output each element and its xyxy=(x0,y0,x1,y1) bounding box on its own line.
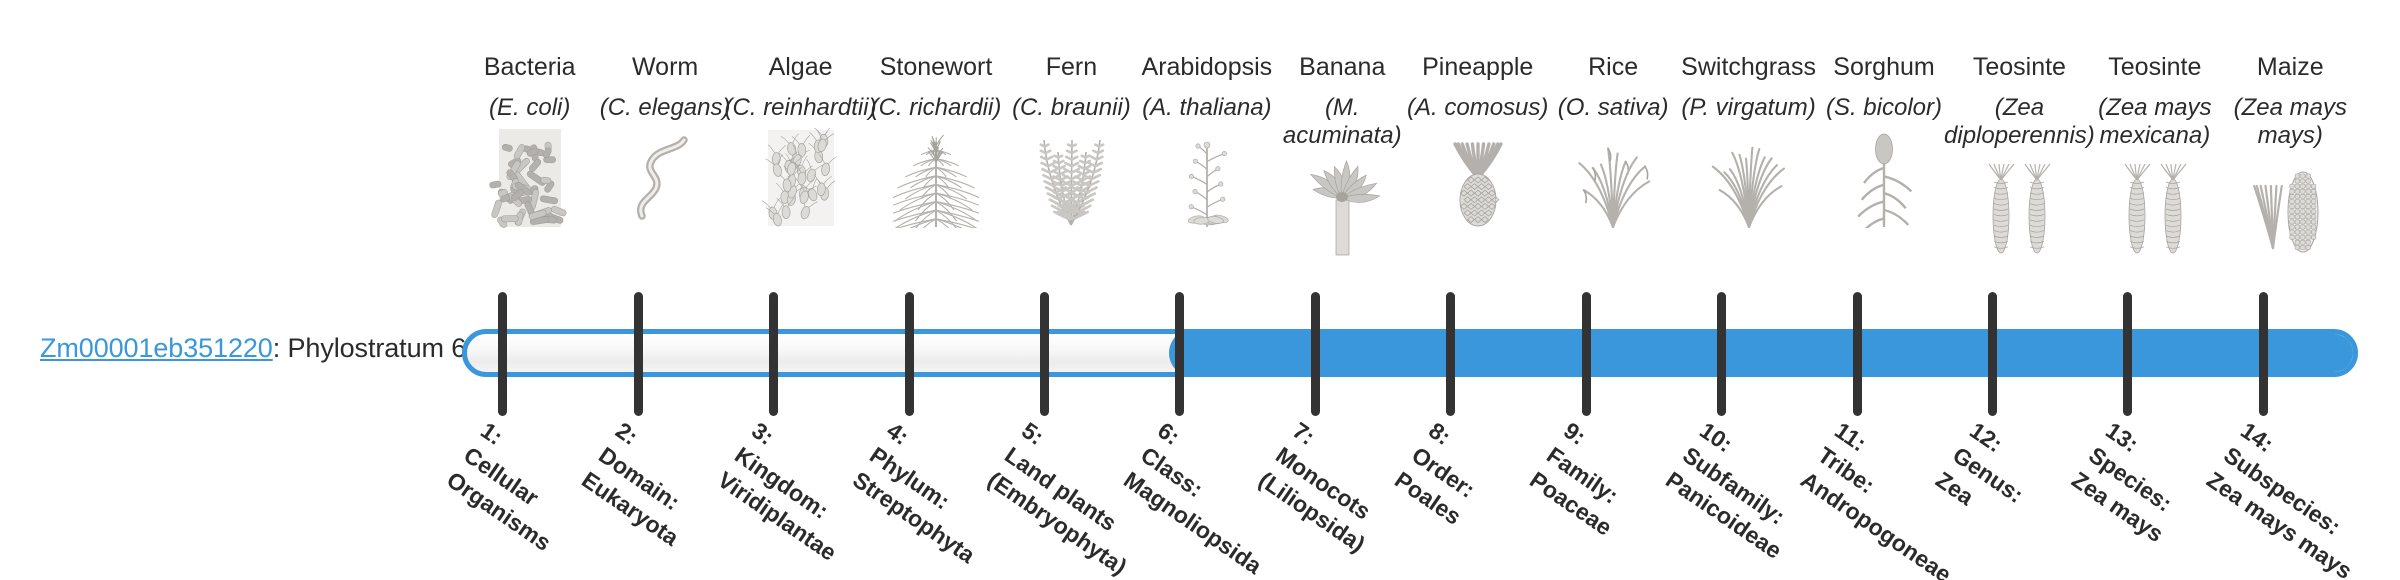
stratum-tick-1[interactable] xyxy=(498,292,507,416)
stratum-label-6: 6: Class: Magnoliopsida xyxy=(1118,416,1358,580)
phylostratum-chart: Zm00001eb351220: Phylostratum 6 Bacteria… xyxy=(0,0,2400,580)
stratum-tick-8[interactable] xyxy=(1446,292,1455,416)
stratum-label-11: 11: Tribe: Andropogoneae xyxy=(1795,416,2035,580)
maize-illustration xyxy=(2211,156,2370,256)
stratum-tick-14[interactable] xyxy=(2259,292,2268,416)
stratum-tick-10[interactable] xyxy=(1717,292,1726,416)
species-column: Maize (Zea mays mays) xyxy=(2211,52,2370,256)
stratum-tick-5[interactable] xyxy=(1040,292,1049,416)
stratum-tick-7[interactable] xyxy=(1311,292,1320,416)
stratum-tick-3[interactable] xyxy=(769,292,778,416)
stratum-label-4: 4: Phylum: Streptophyta xyxy=(847,416,1087,580)
species-latin-name: (Zea mays mays) xyxy=(2211,94,2370,151)
stratum-label-7: 7: Monocots (Liliopsida) xyxy=(1253,416,1493,580)
stratum-label-10: 10: Subfamily: Panicoideae xyxy=(1659,416,1899,580)
stratum-label-2: 2: Domain: Eukaryota xyxy=(576,416,816,580)
gene-phylostratum-label: Zm00001eb351220: Phylostratum 6 xyxy=(40,333,440,364)
stratum-tick-6[interactable] xyxy=(1175,292,1184,416)
stratum-label-9: 9: Family: Poaceae xyxy=(1524,416,1764,580)
stratum-label-1: 1: Cellular Organisms xyxy=(440,416,680,580)
stratum-label-group: 1: Cellular Organisms2: Domain: Eukaryot… xyxy=(462,424,2358,580)
stratum-label-8: 8: Order: Poales xyxy=(1388,416,1628,580)
stratum-tick-11[interactable] xyxy=(1853,292,1862,416)
stratum-label-13: 13: Species: Zea mays xyxy=(2066,416,2306,580)
stratum-tick-4[interactable] xyxy=(905,292,914,416)
species-header-row: Bacteria (E. coli) Worm (C. elegans) Alg… xyxy=(462,52,2358,302)
stratum-label-14: 14: Subspecies: Zea mays mays xyxy=(2201,416,2400,580)
stratum-tick-12[interactable] xyxy=(1988,292,1997,416)
gene-label-separator: : xyxy=(273,333,288,363)
phylostratum-value-text: Phylostratum 6 xyxy=(288,333,467,363)
stratum-tick-9[interactable] xyxy=(1582,292,1591,416)
stratum-tick-13[interactable] xyxy=(2123,292,2132,416)
stratum-label-5: 5: Land plants (Embryophyta) xyxy=(982,416,1222,580)
stratum-label-3: 3: Kingdom: Viridiplantae xyxy=(711,416,951,580)
species-common-name: Maize xyxy=(2211,52,2370,83)
gene-id-link[interactable]: Zm00001eb351220 xyxy=(40,333,273,363)
stratum-tick-group xyxy=(462,292,2358,416)
stratum-tick-2[interactable] xyxy=(634,292,643,416)
stratum-label-12: 12: Genus: Zea xyxy=(1930,416,2170,580)
